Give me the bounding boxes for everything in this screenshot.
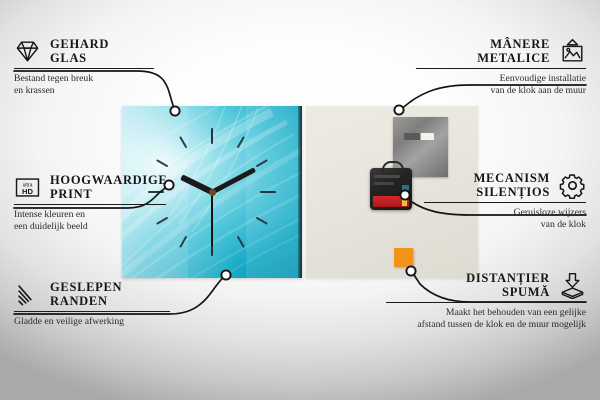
feature-title: DISTANȚIER SPUMĂ	[466, 272, 550, 299]
hanger-slot	[404, 133, 434, 140]
feature-desc: Maakt het behouden van een gelijke afsta…	[386, 303, 586, 331]
feature-desc: Gladde en veilige afwerking	[14, 312, 170, 328]
movement-detail-bar	[374, 175, 400, 178]
feature-hoogwaardige-print: ultra HD HOOGWAARDIGE PRINT Intense kleu…	[14, 174, 166, 233]
feature-geslepen-randen: GESLEPEN RANDEN Gladde en veilige afwerk…	[14, 281, 170, 328]
foam-spacer-pad-photo	[394, 248, 413, 267]
feature-desc: Geruisloze wijzers van de klok	[424, 203, 586, 231]
clock-tick-12	[211, 128, 213, 192]
gear-icon	[559, 172, 586, 199]
clock-second-hand	[211, 192, 213, 246]
feature-manere-metalice: MÂNERE METALICE Eenvoudige installatie v…	[416, 38, 586, 97]
picture-frame-hanging-icon	[559, 38, 586, 65]
movement-chip	[402, 185, 409, 190]
feature-desc: Intense kleuren en een duidelijk beeld	[14, 205, 166, 233]
ultra-hd-icon: ultra HD	[14, 174, 41, 201]
movement-hook	[382, 161, 404, 172]
feature-desc: Eenvoudige installatie van de klok aan d…	[416, 69, 586, 97]
feature-gehard-glas: GEHARD GLAS Bestand tegen breuk en krass…	[14, 38, 154, 97]
ultra-hd-icon-bottom-text: HD	[22, 187, 33, 196]
feature-title: GESLEPEN RANDEN	[50, 281, 122, 308]
feature-title: HOOGWAARDIGE PRINT	[50, 174, 167, 201]
battery	[373, 196, 409, 207]
clock-center-cap	[209, 189, 216, 196]
feature-distantier-spuma: DISTANȚIER SPUMĂ Maakt het behouden van …	[386, 272, 586, 331]
beveled-edges-icon	[14, 281, 41, 308]
feature-mecanism-silentios: MECANISM SILENȚIOS Geruisloze wijzers va…	[424, 172, 586, 231]
quartz-movement-photo	[370, 168, 412, 210]
infographic-canvas: GEHARD GLAS Bestand tegen breuk en krass…	[0, 0, 600, 400]
feature-desc: Bestand tegen breuk en krassen	[14, 69, 154, 97]
feature-title: MECANISM SILENȚIOS	[474, 172, 550, 199]
feature-title: GEHARD GLAS	[50, 38, 109, 65]
foam-spacer-icon	[559, 272, 586, 299]
clock-tick-3	[212, 191, 276, 193]
diamond-icon	[14, 38, 41, 65]
movement-detail-bar-2	[374, 182, 394, 185]
feature-title: MÂNERE METALICE	[477, 38, 550, 65]
